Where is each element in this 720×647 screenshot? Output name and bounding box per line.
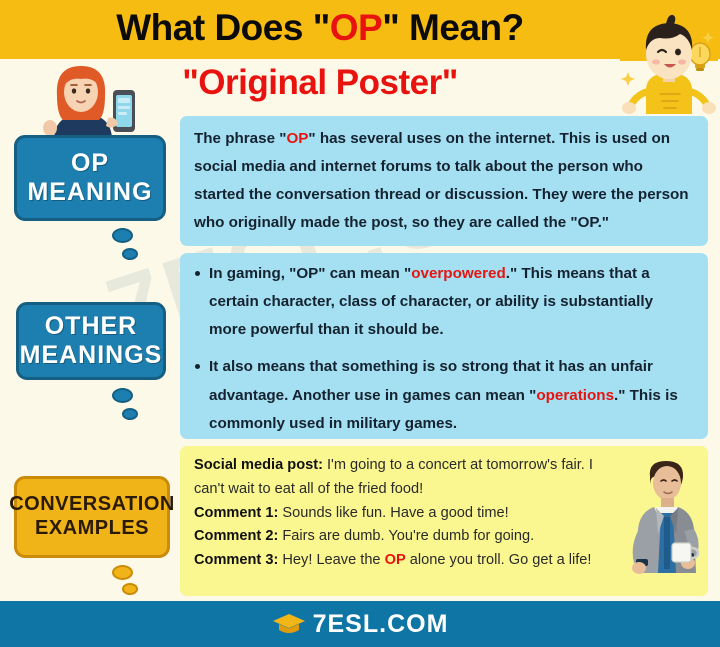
conversation-speaker: Comment 2:: [194, 528, 278, 544]
list-item: In gaming, "OP" can mean "overpowered." …: [194, 260, 692, 344]
other-meanings-list: In gaming, "OP" can mean "overpowered." …: [194, 260, 692, 438]
section-label-line1: OP: [27, 149, 152, 179]
conversation-text: Sounds like fun. Have a good time!: [278, 505, 508, 521]
thought-dot-large: [112, 388, 133, 403]
thought-dot-large: [112, 565, 133, 580]
bullet-pre: In gaming, "OP" can mean ": [209, 265, 411, 282]
section-label-other-meanings: OTHER MEANINGS: [16, 302, 166, 380]
conversation-line: Comment 2: Fairs are dumb. You're dumb f…: [194, 525, 692, 549]
thought-dot-small: [122, 583, 138, 595]
conversation-line: Social media post: I'm going to a concer…: [194, 454, 692, 502]
thinking-kid-illustration: [620, 2, 718, 114]
title-suffix: Mean?: [399, 7, 523, 48]
thought-dot-small: [122, 408, 138, 420]
infographic-root: What Does "OP" Mean? "Original Poster": [0, 0, 720, 647]
conversation-speaker: Comment 3:: [194, 552, 278, 568]
section-label-line2: EXAMPLES: [9, 517, 175, 541]
title-quote-open: ": [313, 7, 330, 48]
section-label-conversation-examples: CONVERSATION EXAMPLES: [14, 476, 170, 558]
woman-with-phone-illustration: [30, 62, 152, 140]
op-meaning-pre: The phrase ": [194, 130, 286, 147]
title-prefix: What Does: [116, 7, 312, 48]
section-label-line2: MEANING: [27, 178, 152, 208]
title-quote-close: ": [382, 7, 399, 48]
panel-other-meanings: In gaming, "OP" can mean "overpowered." …: [180, 253, 708, 439]
graduation-cap-icon: [272, 611, 306, 637]
op-meaning-text: The phrase "OP" has several uses on the …: [194, 125, 692, 238]
section-label-op-meaning: OP MEANING: [14, 135, 166, 221]
man-with-coffee-illustration: [620, 455, 712, 577]
conversation-line: Comment 1: Sounds like fun. Have a good …: [194, 502, 692, 526]
footer-bar: 7ESL.COM: [0, 601, 720, 647]
conversation-text-pre: Hey! Leave the: [278, 552, 384, 568]
title-accent-op: OP: [330, 7, 382, 48]
page-title: What Does "OP" Mean?: [0, 2, 640, 54]
conversation-text-post: alone you troll. Go get a life!: [406, 552, 592, 568]
section-label-line1: CONVERSATION: [9, 493, 175, 517]
bullet-accent: overpowered: [411, 265, 506, 282]
list-item: It also means that something is so stron…: [194, 353, 692, 437]
panel-op-meaning: The phrase "OP" has several uses on the …: [180, 116, 708, 246]
conversation-speaker: Comment 1:: [194, 505, 278, 521]
thought-dot-small: [122, 248, 138, 260]
conversation-line: Comment 3: Hey! Leave the OP alone you t…: [194, 549, 692, 573]
conversation-accent-op: OP: [385, 552, 406, 568]
brand-logo[interactable]: 7ESL.COM: [272, 610, 449, 639]
brand-name: 7ESL.COM: [313, 610, 449, 639]
conversation-text: Fairs are dumb. You're dumb for going.: [278, 528, 534, 544]
bullet-accent: operations: [536, 387, 614, 404]
section-label-line2: MEANINGS: [20, 341, 163, 371]
op-meaning-accent: OP: [286, 130, 308, 147]
thought-dot-large: [112, 228, 133, 243]
conversation-speaker: Social media post:: [194, 457, 323, 473]
section-label-line1: OTHER: [20, 312, 163, 342]
